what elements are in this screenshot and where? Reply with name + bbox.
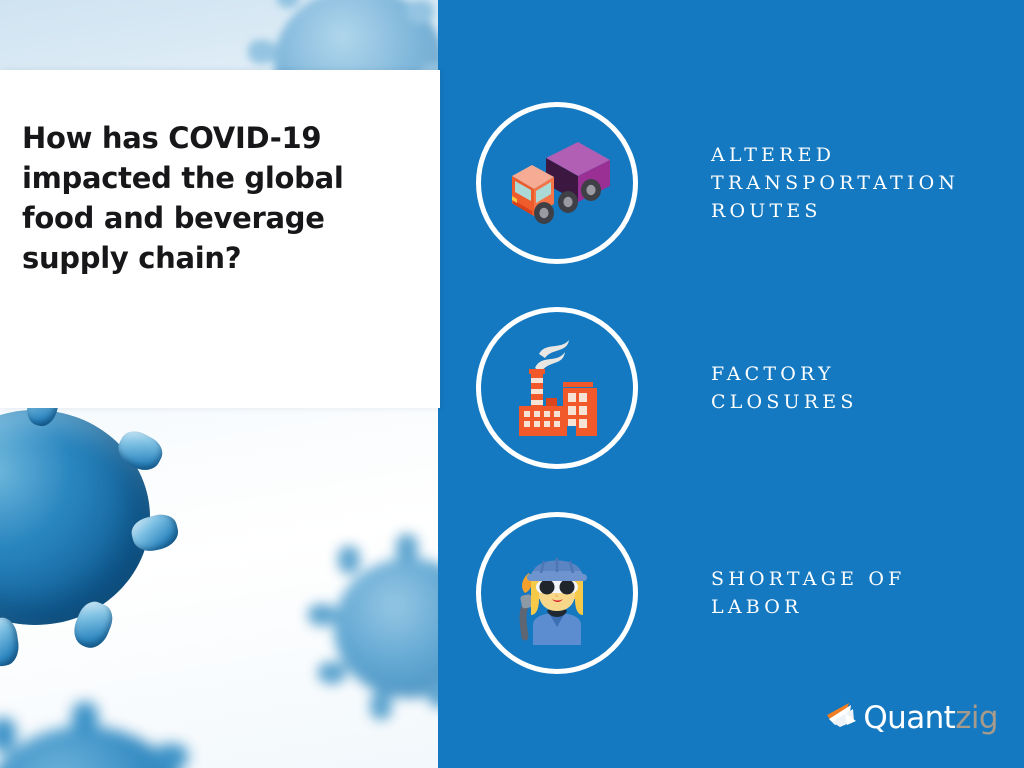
page-title: How has COVID-19 impacted the global foo… bbox=[22, 118, 352, 278]
logo-text-secondary: zig bbox=[955, 700, 998, 736]
headline-card: How has COVID-19 impacted the global foo… bbox=[0, 70, 440, 408]
right-content-panel: ALTERED TRANSPORTATION ROUTES bbox=[444, 0, 1024, 768]
quantzig-fan-mark-icon bbox=[823, 701, 859, 736]
virus-particle-bottom-left bbox=[0, 700, 240, 768]
factory-icon bbox=[505, 336, 609, 440]
feature-item-labor[interactable]: SHORTAGE OF LABOR bbox=[476, 508, 1016, 678]
feature-item-factory[interactable]: FACTORY CLOSURES bbox=[476, 303, 1016, 473]
quantzig-logo[interactable]: Quantzig bbox=[823, 701, 998, 736]
delivery-truck-icon bbox=[502, 140, 612, 226]
feature-label-transportation: ALTERED TRANSPORTATION ROUTES bbox=[711, 141, 959, 225]
infographic-slide: How has COVID-19 impacted the global foo… bbox=[0, 0, 1024, 768]
logo-text-primary: Quant bbox=[863, 700, 955, 736]
icon-circle-transportation bbox=[476, 102, 638, 264]
icon-circle-factory bbox=[476, 307, 638, 469]
feature-item-transportation[interactable]: ALTERED TRANSPORTATION ROUTES bbox=[476, 98, 1016, 268]
virus-particle-main bbox=[0, 390, 180, 680]
feature-label-factory: FACTORY CLOSURES bbox=[711, 360, 858, 416]
woman-factory-worker-icon bbox=[503, 541, 611, 645]
feature-label-labor: SHORTAGE OF LABOR bbox=[711, 565, 906, 621]
virus-particle-right bbox=[300, 530, 444, 745]
icon-circle-labor bbox=[476, 512, 638, 674]
